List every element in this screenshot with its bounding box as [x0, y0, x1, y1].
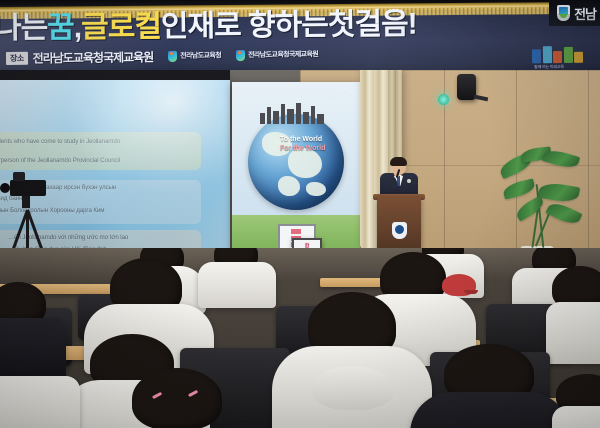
student-front-3 [410, 344, 570, 428]
org-logo-1-label: 전라남도교육청국제교육원 [248, 49, 318, 60]
audience-area [0, 248, 600, 428]
banner-headline-seg-6: 첫걸음! [328, 10, 417, 41]
banner-headline-seg-4: 인재 [161, 12, 215, 43]
student-with-cap [430, 274, 490, 314]
skyline-bldg-2 [267, 107, 271, 124]
student-front-4-hair [132, 368, 222, 428]
green-stage-light [438, 94, 449, 105]
camera-viewfinder-icon [13, 172, 25, 181]
student-front-6-hoodie [552, 406, 600, 428]
plant-leaf-3 [542, 147, 580, 170]
skyline-bldg-1 [260, 113, 265, 124]
shield-icon [557, 5, 570, 21]
skyline-bldg-7 [303, 112, 309, 124]
video-camera-icon [10, 180, 46, 196]
banner-place-tag: 장소 [6, 51, 28, 64]
org-logo-1: 전라남도교육청국제교육원 [236, 49, 318, 61]
org-logo-0-label: 전라남도교육청 [180, 50, 221, 60]
campaign-block-2 [542, 46, 551, 63]
campaign-block-1 [532, 49, 541, 63]
corner-institution-logo: 전남 [549, 0, 600, 26]
skyline-bldg-4 [281, 104, 285, 124]
tripod-head [22, 196, 30, 208]
speaker-hair [390, 157, 407, 166]
campaign-block-3 [553, 51, 562, 63]
student-front-1 [272, 292, 432, 428]
stand-char-1 [291, 229, 301, 234]
podium-emblem-icon [392, 222, 407, 239]
continent-shape-4 [306, 182, 326, 196]
campaign-block-4 [563, 47, 572, 63]
education-office-mark-icon [168, 50, 177, 61]
banner-headline: 나는 꿈 , 글로컬 인재 로 향하는 첫걸음! [0, 6, 600, 46]
banner-headline-seg-3: 글로컬 [81, 12, 161, 43]
corner-logo-label: 전남 [574, 4, 596, 23]
student-front-6 [552, 374, 600, 428]
plant-leaf-6 [514, 195, 546, 221]
cap-brim-icon [464, 290, 478, 294]
podium [377, 196, 421, 256]
student-front-4 [118, 368, 238, 428]
international-center-mark-icon [236, 50, 245, 61]
student-mid-4 [0, 282, 66, 378]
skyline-bldg-8 [311, 106, 315, 124]
student-front-5 [0, 366, 80, 428]
plant-leaf-5 [538, 181, 580, 205]
poster-slogan-line-1: To the World [280, 136, 325, 145]
student-front-5-hoodie [0, 376, 80, 428]
lapel-pin-icon [407, 179, 411, 183]
plant-leaf-7 [545, 199, 582, 227]
banner-headline-seg-0: 나는 [0, 14, 47, 45]
campaign-logo-blocks [532, 46, 583, 64]
campaign-logo: 함께 여는 미래교육 [532, 44, 592, 71]
student-front-1-hood [312, 366, 394, 410]
camera-lens-icon [0, 183, 10, 193]
skyline-bldg-9 [317, 114, 324, 124]
campaign-block-5 [574, 52, 583, 63]
plant-leaf-4 [502, 178, 536, 199]
poster-slogan: To the World For the World [280, 136, 325, 154]
skyline-bldg-6 [296, 103, 301, 124]
screen-top-bar [0, 70, 230, 80]
continent-shape-3 [278, 176, 300, 196]
event-banner: 나는 꿈 , 글로컬 인재 로 향하는 첫걸음! 장소 전라남도교육청국제교육원… [0, 0, 600, 74]
banner-place-value: 전라남도교육청국제교육원 [33, 48, 154, 66]
skyline-bldg-5 [287, 109, 294, 124]
org-logo-0: 전라남도교육청 [168, 50, 221, 62]
city-skyline-icon [258, 102, 334, 124]
globe-graphic-icon [248, 114, 344, 210]
banner-headline-seg-1: 꿈 [47, 13, 74, 43]
student-front-3-jacket [410, 392, 570, 428]
photograph-scene: 나는 꿈 , 글로컬 인재 로 향하는 첫걸음! 장소 전라남도교육청국제교육원… [0, 0, 600, 428]
banner-headline-seg-5: 로 향하는 [214, 11, 328, 42]
poster-slogan-line-2: For the World [280, 145, 325, 154]
skyline-bldg-3 [273, 111, 279, 124]
